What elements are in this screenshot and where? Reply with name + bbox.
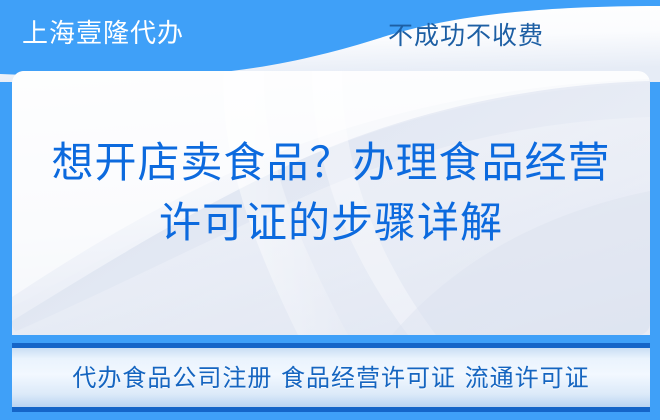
title-line-1: 想开店卖食品？办理食品经营 (12, 133, 650, 193)
main-panel: 想开店卖食品？办理食品经营 许可证的步骤详解 (12, 71, 650, 335)
slogan-text: 不成功不收费 (388, 20, 544, 52)
title-block: 想开店卖食品？办理食品经营 许可证的步骤详解 (12, 133, 650, 253)
keyword-text: 代办食品公司注册 食品经营许可证 流通许可证 (72, 363, 589, 393)
keyword-bar: 代办食品公司注册 食品经营许可证 流通许可证 (12, 343, 650, 412)
brand-title: 上海壹隆代办 (22, 18, 184, 50)
bottom-strip (0, 412, 660, 420)
title-line-2: 许可证的步骤详解 (12, 193, 650, 253)
promo-banner: 上海壹隆代办 不成功不收费 (0, 0, 660, 420)
